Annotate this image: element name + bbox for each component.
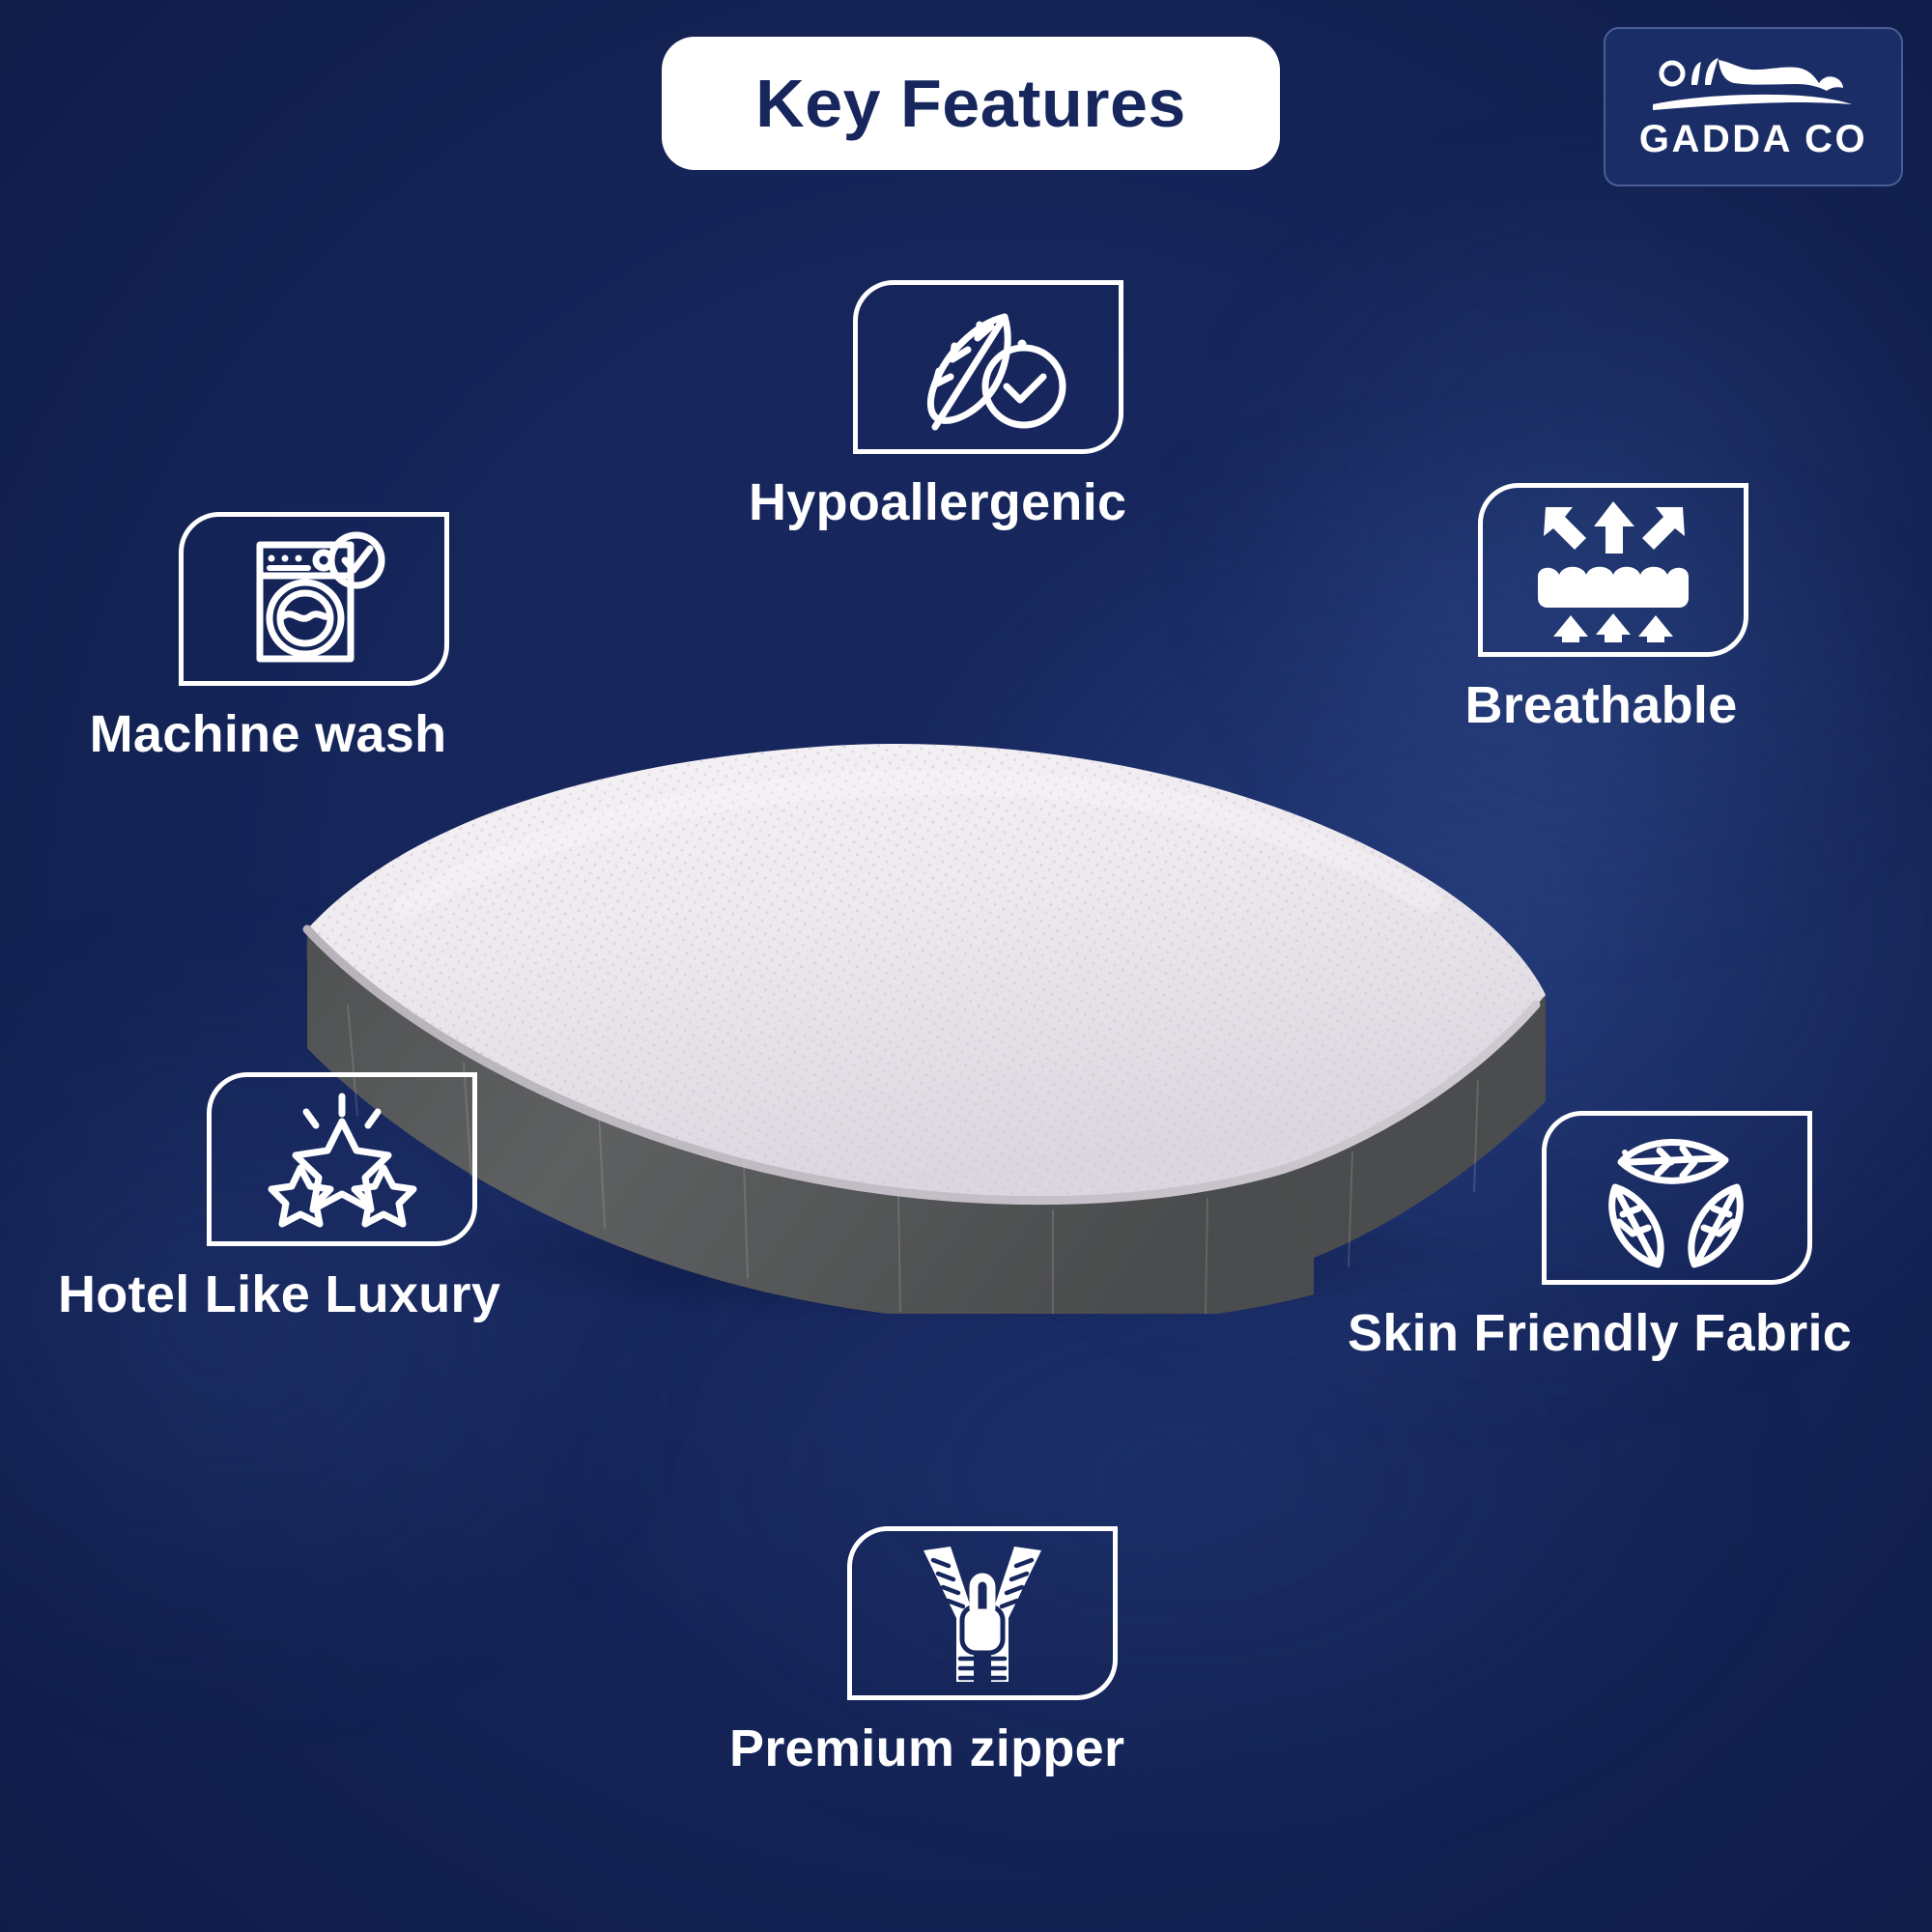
feature-premium-zipper: Premium zipper	[840, 1526, 1124, 1776]
sleeping-person-mattress-icon	[1647, 56, 1860, 116]
mattress-airflow-arrows-icon	[1517, 497, 1710, 642]
feature-label: Skin Friendly Fabric	[1348, 1306, 1852, 1361]
feature-icon-box	[1478, 483, 1748, 657]
feature-hotel-luxury: Hotel Like Luxury	[184, 1072, 500, 1322]
zipper-icon	[910, 1541, 1055, 1686]
page-title: Key Features	[755, 70, 1186, 137]
feature-label: Breathable	[1464, 678, 1737, 733]
feature-label: Hypoallergenic	[749, 475, 1126, 530]
feature-breathable: Breathable	[1478, 483, 1748, 733]
header-banner: Key Features	[662, 37, 1280, 170]
feature-icon-box	[853, 280, 1123, 454]
three-leaves-circle-icon	[1590, 1125, 1764, 1270]
feather-check-icon	[896, 303, 1080, 431]
feature-icon-box	[1542, 1111, 1812, 1285]
three-stars-sparkle-icon	[250, 1087, 434, 1232]
feature-skin-fabric: Skin Friendly Fabric	[1502, 1111, 1852, 1361]
feature-label: Hotel Like Luxury	[58, 1267, 500, 1322]
washing-machine-check-icon	[227, 531, 401, 667]
feature-icon-box	[847, 1526, 1118, 1700]
feature-label: Premium zipper	[729, 1721, 1124, 1776]
feature-icon-box	[207, 1072, 477, 1246]
feature-machine-wash: Machine wash	[179, 512, 449, 762]
brand-logo-badge: GADDA CO	[1604, 27, 1903, 186]
feature-icon-box	[179, 512, 449, 686]
brand-name: GADDA CO	[1639, 120, 1867, 158]
feature-label: Machine wash	[90, 707, 447, 762]
poster-canvas: Key Features GADDA CO	[0, 0, 1932, 1932]
feature-hypoallergenic: Hypoallergenic	[850, 280, 1126, 530]
